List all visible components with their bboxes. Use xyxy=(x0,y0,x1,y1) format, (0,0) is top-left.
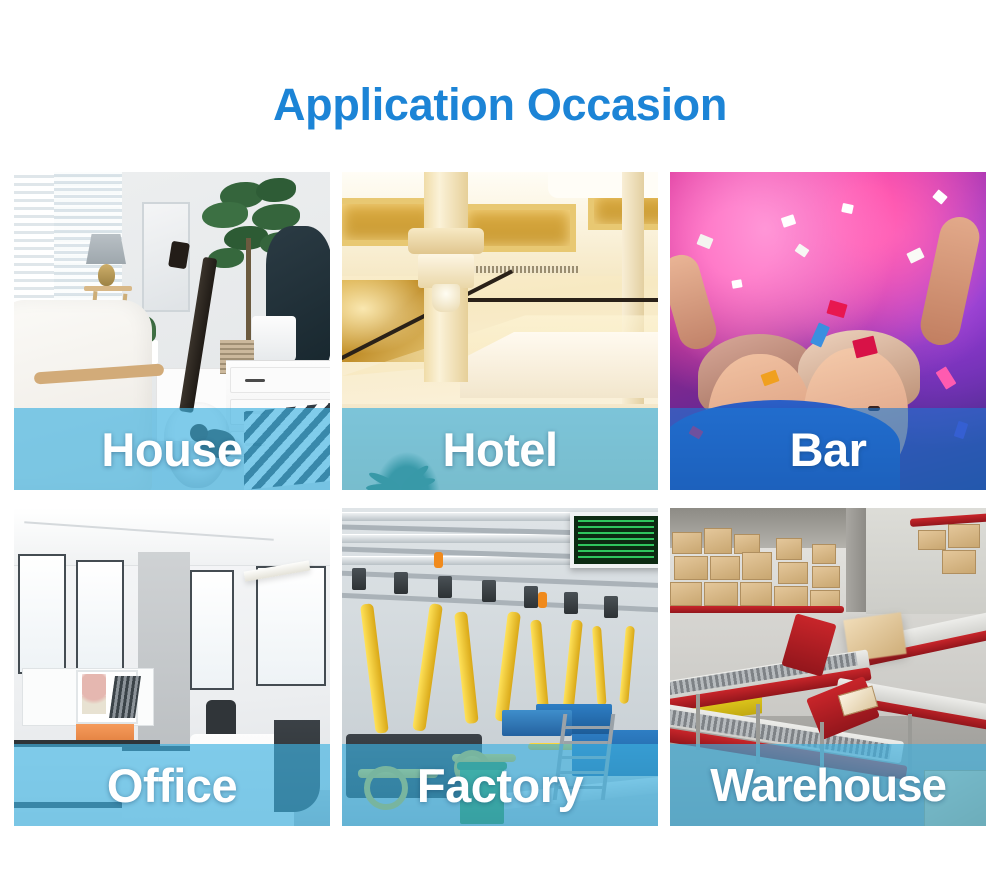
occasion-tile-warehouse[interactable]: Warehouse xyxy=(670,508,986,826)
living-room-photo xyxy=(14,172,330,490)
assembly-line-photo xyxy=(342,508,658,826)
occasion-tile-house[interactable]: House xyxy=(14,172,330,490)
hotel-lobby-photo xyxy=(342,172,658,490)
application-occasion-page: Application Occasion xyxy=(0,0,1000,885)
nightclub-party-photo xyxy=(670,172,986,490)
modern-office-photo xyxy=(14,508,330,826)
occasion-tile-office[interactable]: Office xyxy=(14,508,330,826)
occasion-tile-bar[interactable]: Bar xyxy=(670,172,986,490)
page-title: Application Occasion xyxy=(0,79,1000,131)
occasion-tile-hotel[interactable]: Hotel xyxy=(342,172,658,490)
occasion-grid: House xyxy=(14,172,986,868)
conveyor-warehouse-photo xyxy=(670,508,986,826)
occasion-tile-factory[interactable]: Factory xyxy=(342,508,658,826)
